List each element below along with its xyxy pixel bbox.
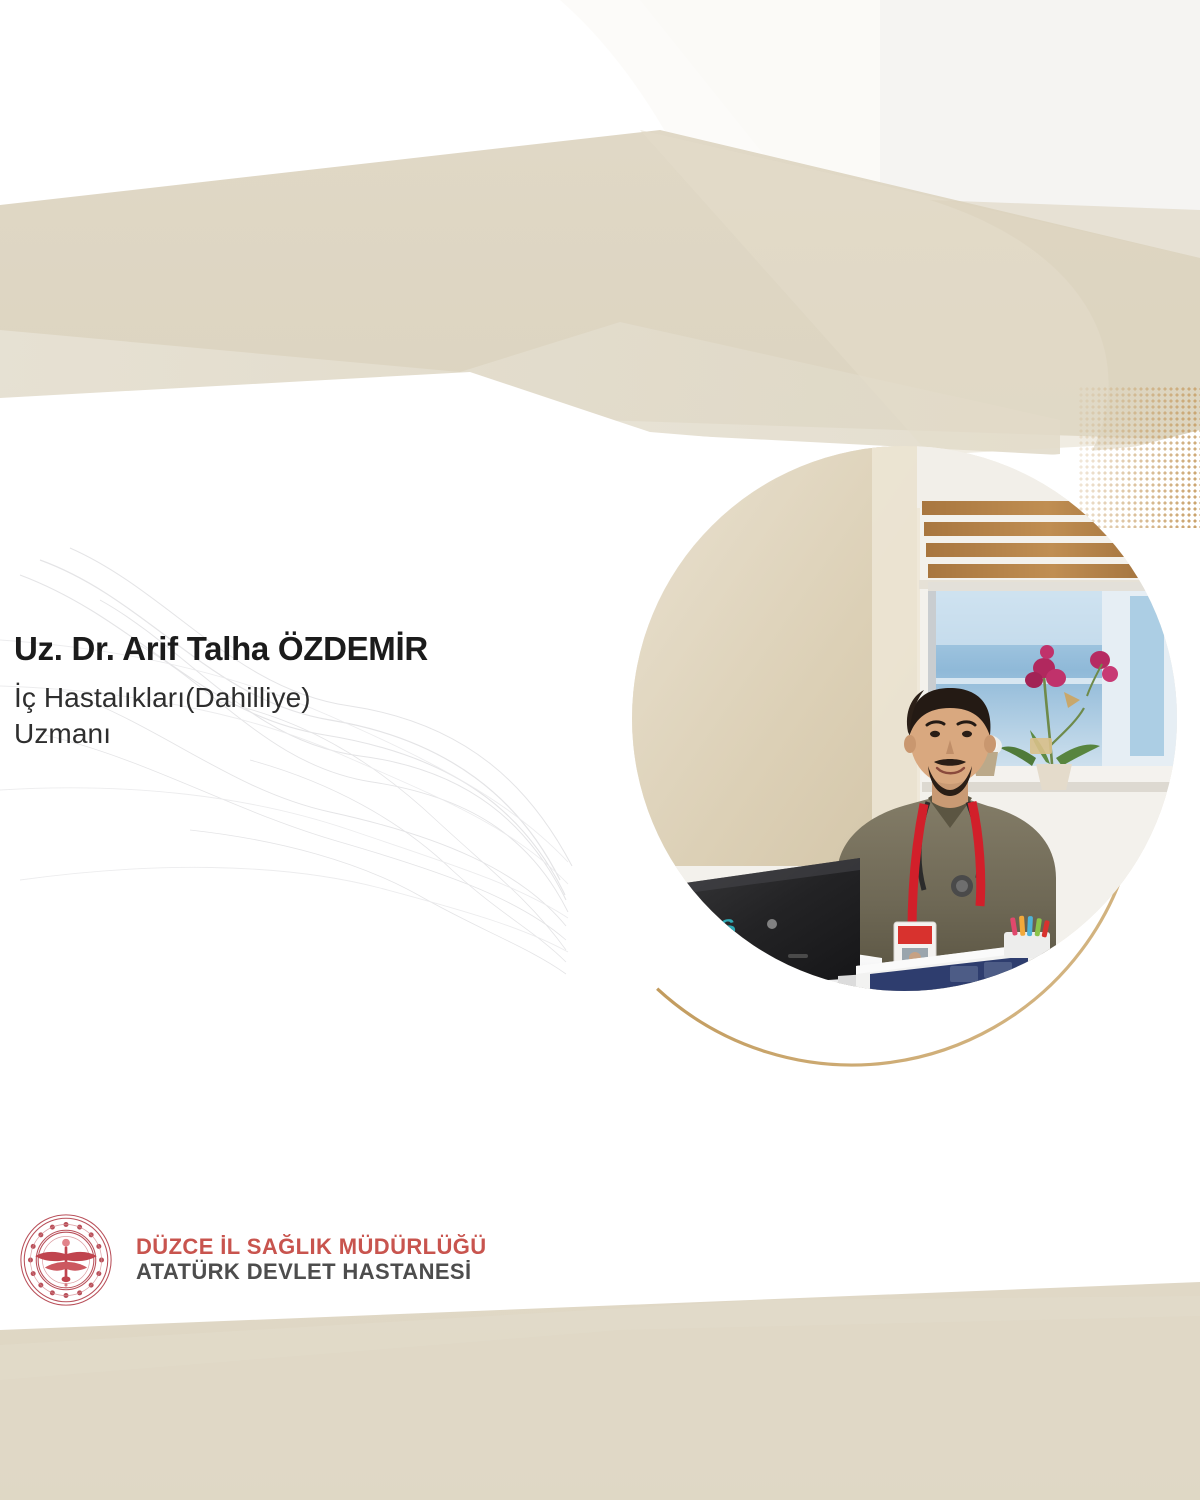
doctor-title-line-1: İç Hastalıkları(Dahilliye) xyxy=(14,680,554,716)
doctor-title: İç Hastalıkları(Dahilliye) Uzmanı xyxy=(14,680,554,753)
health-ministry-emblem-icon xyxy=(18,1212,114,1308)
doctor-announcement-poster: ASUS xyxy=(0,0,1200,1500)
hospital-logo-text: DÜZCE İL SAĞLIK MÜDÜRLÜĞÜ ATATÜRK DEVLET… xyxy=(136,1235,487,1284)
hospital-logo-block: DÜZCE İL SAĞLIK MÜDÜRLÜĞÜ ATATÜRK DEVLET… xyxy=(18,1212,487,1308)
doctor-title-line-2: Uzmanı xyxy=(14,716,554,752)
doctor-name: Uz. Dr. Arif Talha ÖZDEMİR xyxy=(14,630,554,668)
doctor-photo: ASUS xyxy=(632,446,1177,991)
doctor-photo-scene: ASUS xyxy=(632,446,1177,991)
hospital-name: ATATÜRK DEVLET HASTANESİ xyxy=(136,1260,487,1285)
doctor-name-block: Uz. Dr. Arif Talha ÖZDEMİR İç Hastalıkla… xyxy=(14,630,554,753)
health-directorate-name: DÜZCE İL SAĞLIK MÜDÜRLÜĞÜ xyxy=(136,1235,487,1260)
